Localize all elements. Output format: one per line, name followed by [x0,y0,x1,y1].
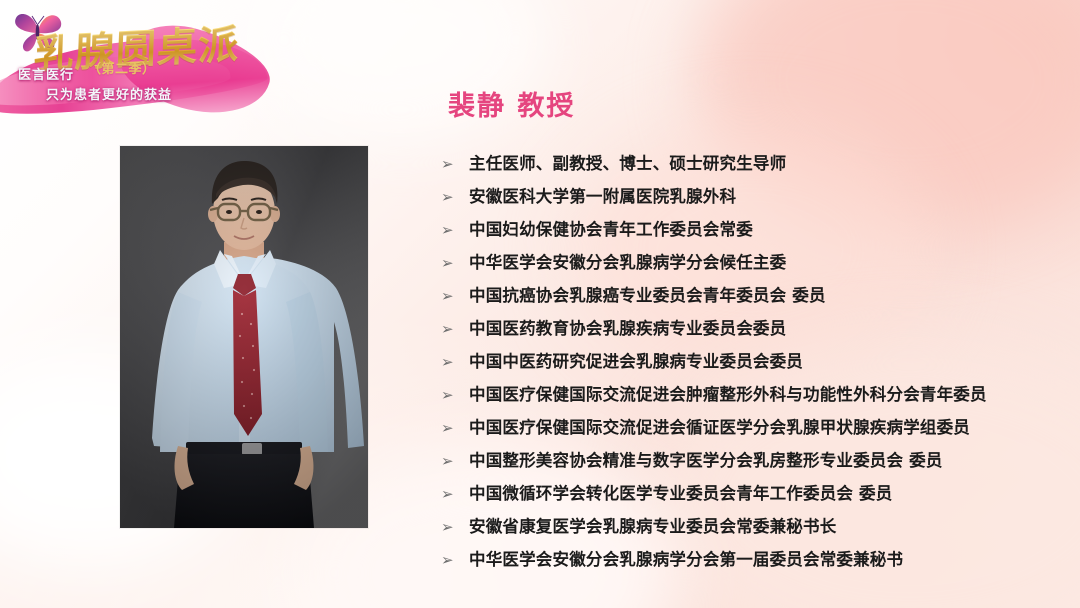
credential-item-label: 中国医疗保健国际交流促进会肿瘤整形外科与功能性外科分会青年委员 [469,381,987,409]
credential-item-label: 安徽省康复医学会乳腺病专业委员会常委兼秘书长 [469,513,836,541]
bullet-arrow-icon: ➢ [441,348,469,376]
bullet-arrow-icon: ➢ [441,183,469,211]
bullet-arrow-icon: ➢ [441,315,469,343]
credential-item-label: 中国抗癌协会乳腺癌专业委员会青年委员会 委员 [469,282,826,310]
bullet-arrow-icon: ➢ [441,381,469,409]
photo-vignette [120,146,368,528]
credential-item: ➢中国整形美容协会精准与数字医学分会乳房整形专业委员会 委员 [441,447,1061,475]
credential-item: ➢中国中医药研究促进会乳腺病专业委员会委员 [441,348,1061,376]
bullet-arrow-icon: ➢ [441,249,469,277]
credential-item-label: 中国医药教育协会乳腺疾病专业委员会委员 [469,315,786,343]
credential-item-label: 中国妇幼保健协会青年工作委员会常委 [469,216,753,244]
logo-tagline-line2: 只为患者更好的获益 [46,84,172,103]
credentials-list: ➢主任医师、副教授、博士、硕士研究生导师➢安徽医科大学第一附属医院乳腺外科➢中国… [441,150,1061,579]
speaker-photo [120,146,368,528]
credential-item-label: 中华医学会安徽分会乳腺病学分会第一届委员会常委兼秘书 [469,546,903,574]
presentation-slide: 乳腺圆桌派 （第二季） 医言医行 只为患者更好的获益 [0,0,1080,608]
credential-item: ➢中国微循环学会转化医学专业委员会青年工作委员会 委员 [441,480,1061,508]
credential-item-label: 主任医师、副教授、博士、硕士研究生导师 [469,150,786,178]
logo-season-label: （第二季） [88,58,156,77]
credential-item: ➢主任医师、副教授、博士、硕士研究生导师 [441,150,1061,178]
bullet-arrow-icon: ➢ [441,513,469,541]
program-logo: 乳腺圆桌派 （第二季） 医言医行 只为患者更好的获益 [0,0,252,120]
bullet-arrow-icon: ➢ [441,282,469,310]
credential-item-label: 中国医疗保健国际交流促进会循证医学分会乳腺甲状腺疾病学组委员 [469,414,970,442]
bullet-arrow-icon: ➢ [441,447,469,475]
credential-item: ➢中华医学会安徽分会乳腺病学分会第一届委员会常委兼秘书 [441,546,1061,574]
credential-item-label: 中华医学会安徽分会乳腺病学分会候任主委 [469,249,786,277]
credential-item: ➢安徽医科大学第一附属医院乳腺外科 [441,183,1061,211]
credential-item-label: 中国整形美容协会精准与数字医学分会乳房整形专业委员会 委员 [469,447,943,475]
bullet-arrow-icon: ➢ [441,216,469,244]
credential-item-label: 中国中医药研究促进会乳腺病专业委员会委员 [469,348,803,376]
bullet-arrow-icon: ➢ [441,150,469,178]
bullet-arrow-icon: ➢ [441,414,469,442]
credential-item: ➢中国医药教育协会乳腺疾病专业委员会委员 [441,315,1061,343]
credential-item: ➢中华医学会安徽分会乳腺病学分会候任主委 [441,249,1061,277]
bullet-arrow-icon: ➢ [441,546,469,574]
bullet-arrow-icon: ➢ [441,480,469,508]
credential-item-label: 中国微循环学会转化医学专业委员会青年工作委员会 委员 [469,480,892,508]
credential-item: ➢安徽省康复医学会乳腺病专业委员会常委兼秘书长 [441,513,1061,541]
credential-item: ➢中国妇幼保健协会青年工作委员会常委 [441,216,1061,244]
credential-item: ➢中国医疗保健国际交流促进会肿瘤整形外科与功能性外科分会青年委员 [441,381,1061,409]
logo-tagline-line1: 医言医行 [18,64,74,83]
credential-item: ➢中国抗癌协会乳腺癌专业委员会青年委员会 委员 [441,282,1061,310]
credential-item-label: 安徽医科大学第一附属医院乳腺外科 [469,183,736,211]
credential-item: ➢中国医疗保健国际交流促进会循证医学分会乳腺甲状腺疾病学组委员 [441,414,1061,442]
speaker-name-title: 裴静 教授 [448,84,575,123]
